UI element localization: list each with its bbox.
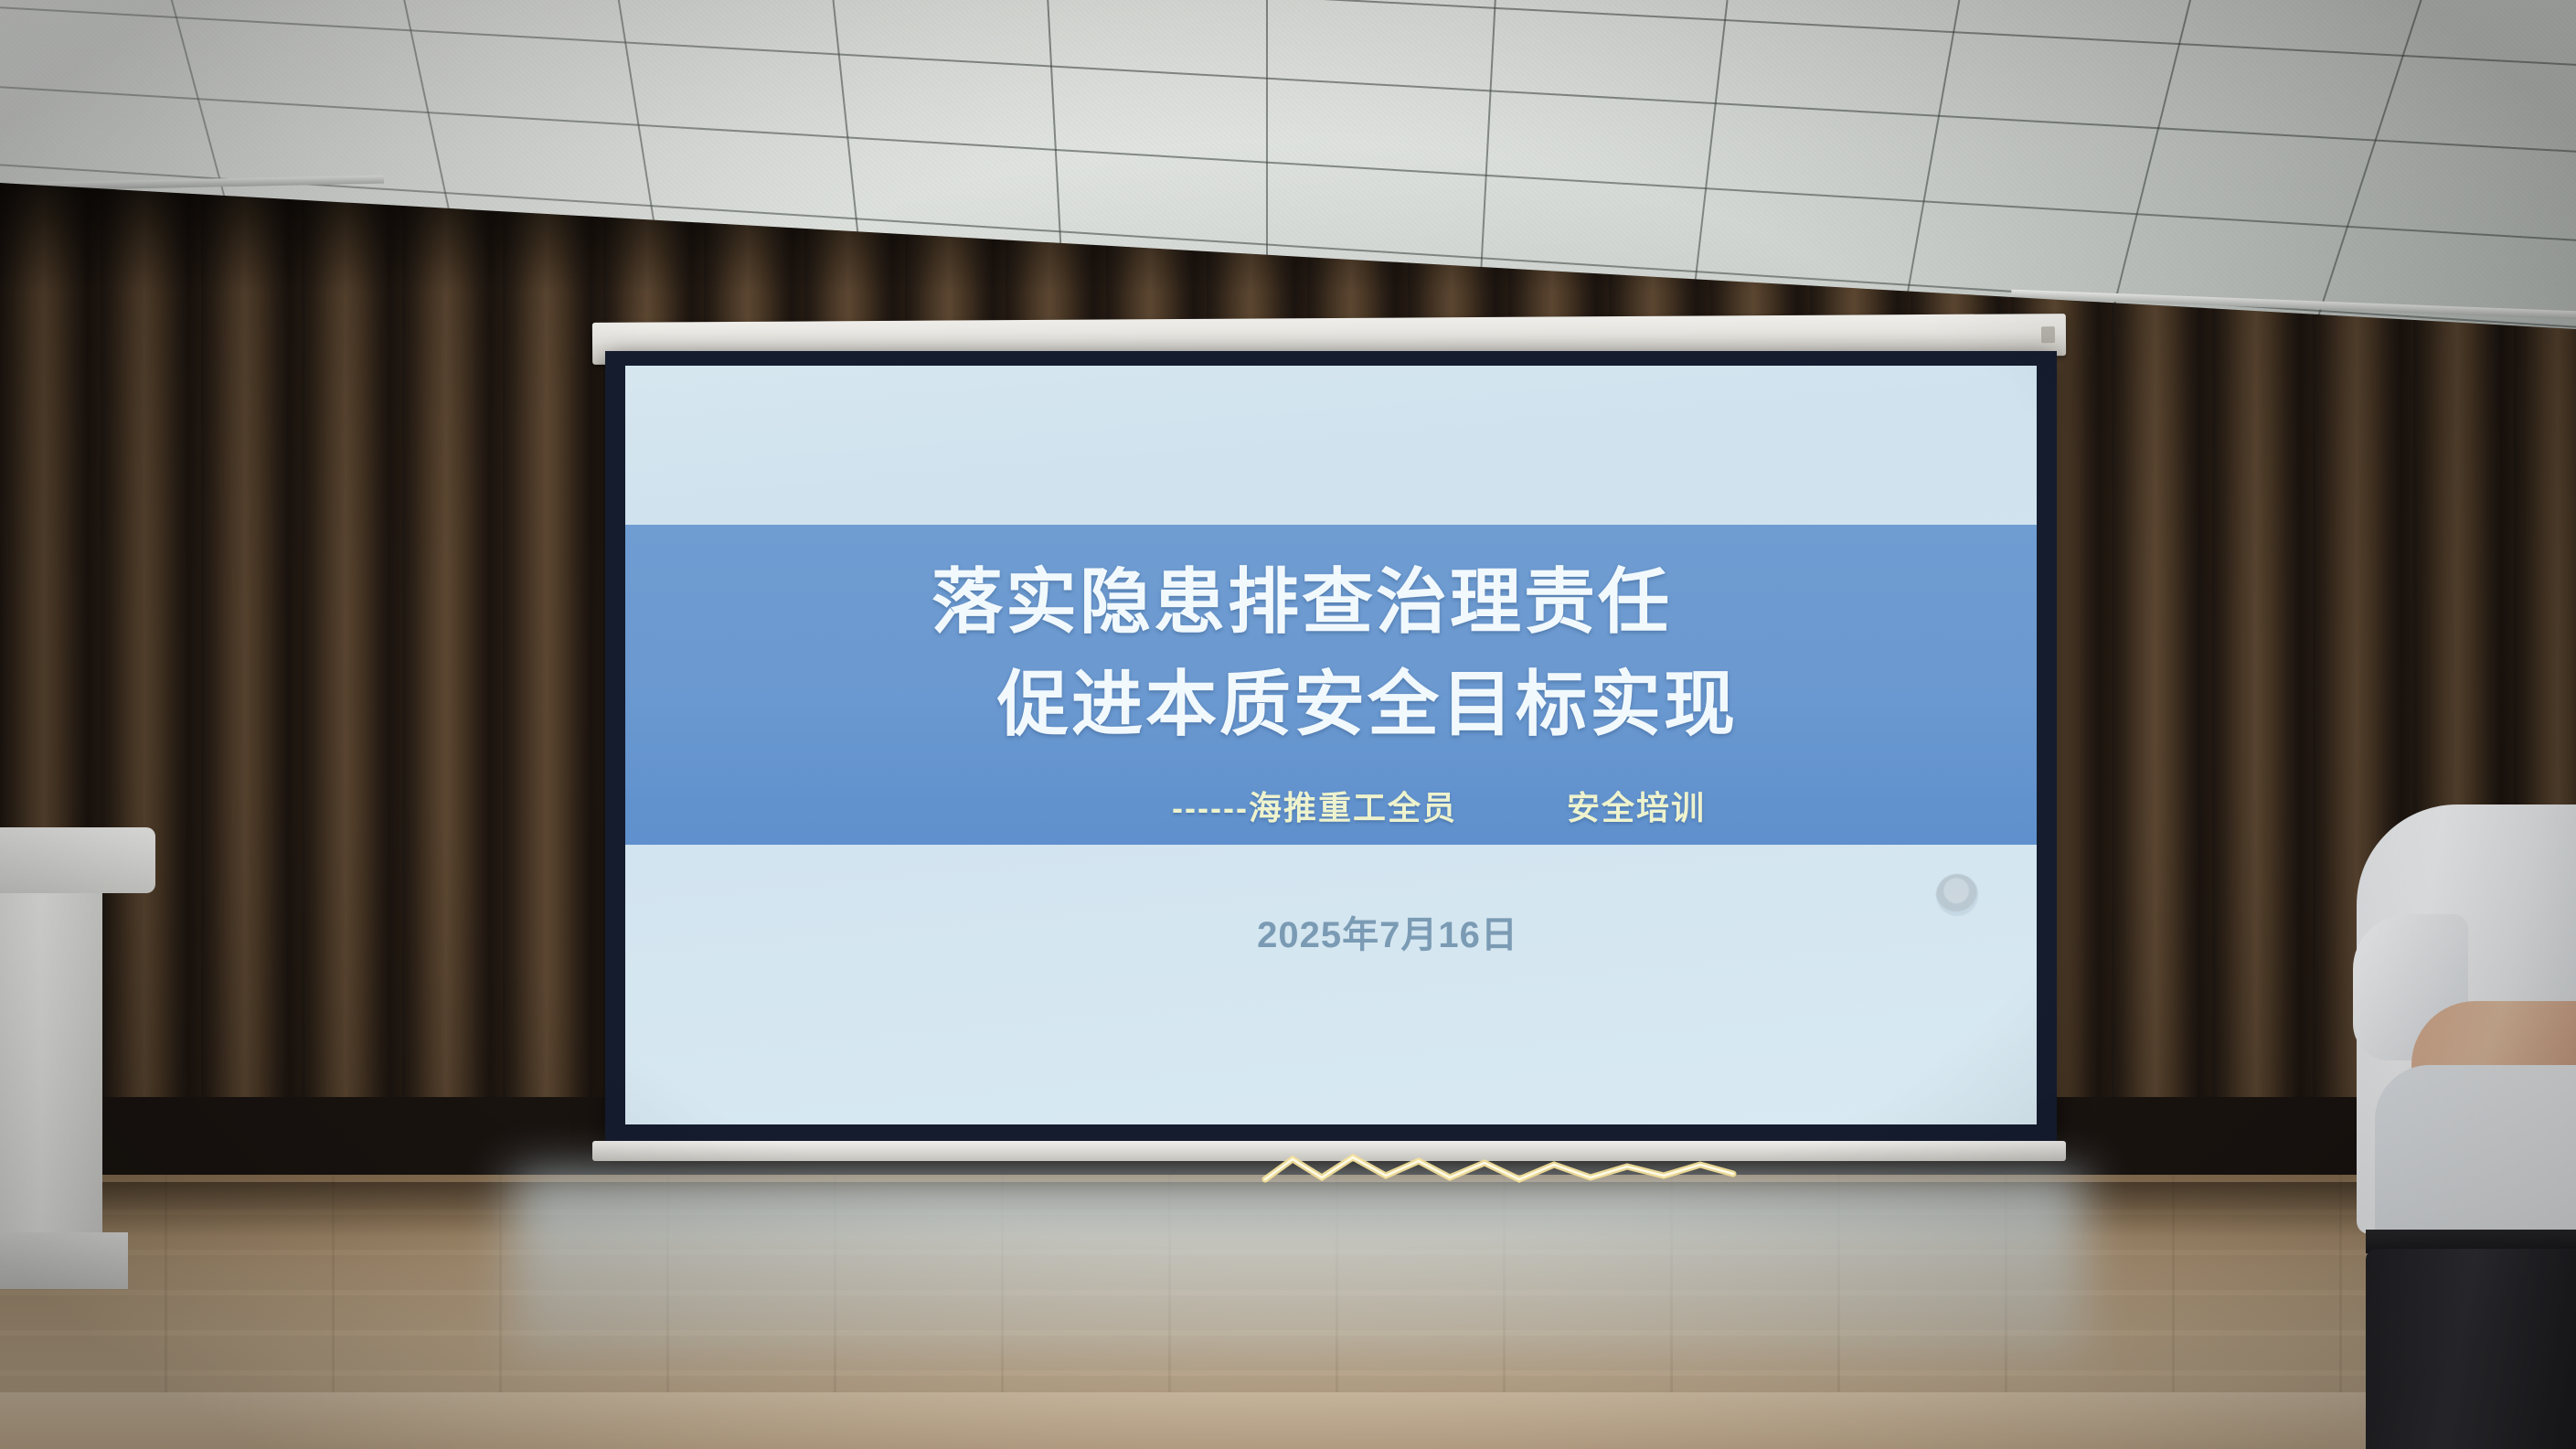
room-photo-scene: 落实隐患排查治理责任 促进本质安全目标实现 ------海推重工全员 安全培训 … (0, 0, 2576, 1449)
person-shirt-hem (2375, 1065, 2576, 1239)
projector-screen-weight-bar (592, 1141, 2066, 1161)
slide-date: 2025年7月16日 (682, 905, 2037, 958)
projector-screen: 落实隐患排查治理责任 促进本质安全目标实现 ------海推重工全员 安全培训 … (605, 351, 2057, 1145)
floor-front-strip (0, 1392, 2576, 1449)
housing-endcap (2041, 326, 2055, 343)
lectern-top (0, 827, 155, 893)
lectern-base (0, 1232, 128, 1289)
projector-light-spill-on-floor (512, 1175, 2084, 1358)
slide-subtitle-left: ------海推重工全员 (1172, 782, 1457, 829)
slide-title-line-2: 促进本质安全目标实现 (662, 647, 2037, 750)
lectern-column (0, 893, 102, 1250)
slide-subtitle-right: 安全培训 (1567, 782, 1706, 829)
slide-title-line-1: 落实隐患排查治理责任 (625, 545, 2007, 647)
person-trousers (2366, 1249, 2576, 1449)
projected-slide: 落实隐患排查治理责任 促进本质安全目标实现 ------海推重工全员 安全培训 … (625, 366, 2037, 1124)
slide-subtitle-row: ------海推重工全员 安全培训 (733, 782, 2037, 829)
